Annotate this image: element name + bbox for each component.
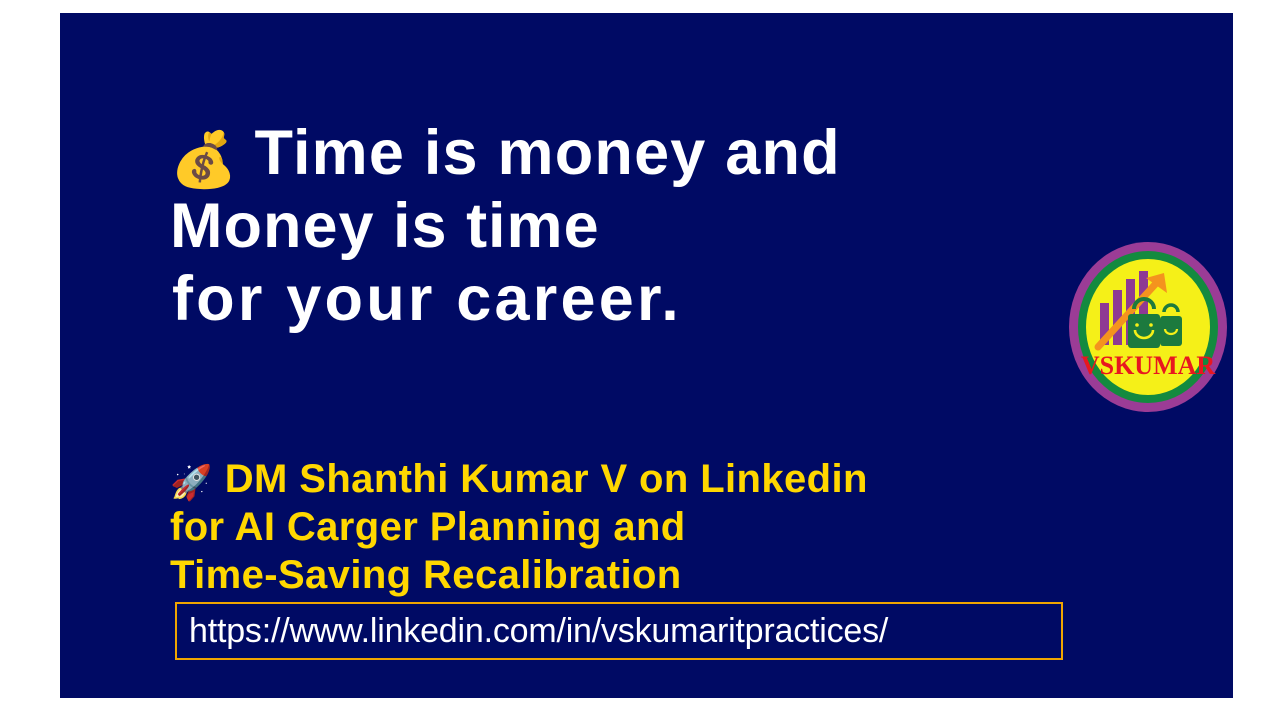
- headline-block: 💰Time is money and Money is time for you…: [170, 117, 1180, 336]
- headline-line-2-text: Money is time: [170, 191, 600, 261]
- money-bag-emoji: 💰: [170, 133, 238, 187]
- rocket-emoji: 🚀: [170, 466, 213, 500]
- cta-block: 🚀DM Shanthi Kumar V on Linkedin for AI C…: [170, 455, 1210, 599]
- headline-line-2: Money is time: [170, 190, 1180, 263]
- headline-line-1-text: Time is money and: [254, 118, 840, 188]
- headline-line-3: for your career.: [170, 263, 1180, 336]
- cta-line-3-text: Time-Saving Recalibration: [170, 553, 682, 597]
- slide-panel: 💰Time is money and Money is time for you…: [60, 13, 1233, 698]
- profile-url-text[interactable]: https://www.linkedin.com/in/vskumaritpra…: [177, 612, 888, 651]
- headline-line-1: 💰Time is money and: [170, 117, 1180, 190]
- cta-line-1-text: DM Shanthi Kumar V on Linkedin: [225, 457, 868, 501]
- vskumar-logo: VSKUMAR: [1068, 241, 1228, 413]
- logo-shopping-bags-icon: [1128, 299, 1182, 348]
- cta-line-1: 🚀DM Shanthi Kumar V on Linkedin: [170, 455, 1210, 503]
- slide-canvas: 💰Time is money and Money is time for you…: [0, 0, 1280, 720]
- logo-brand-text: VSKUMAR: [1081, 351, 1216, 380]
- cta-line-2-text: for AI Carger Planning and: [170, 505, 686, 549]
- cta-line-2: for AI Carger Planning and: [170, 503, 1210, 551]
- vskumar-logo-graphic: VSKUMAR: [1068, 241, 1228, 413]
- profile-url-box[interactable]: https://www.linkedin.com/in/vskumaritpra…: [175, 602, 1063, 660]
- headline-line-3-text: for your career.: [172, 264, 682, 334]
- cta-line-3: Time-Saving Recalibration: [170, 551, 1210, 599]
